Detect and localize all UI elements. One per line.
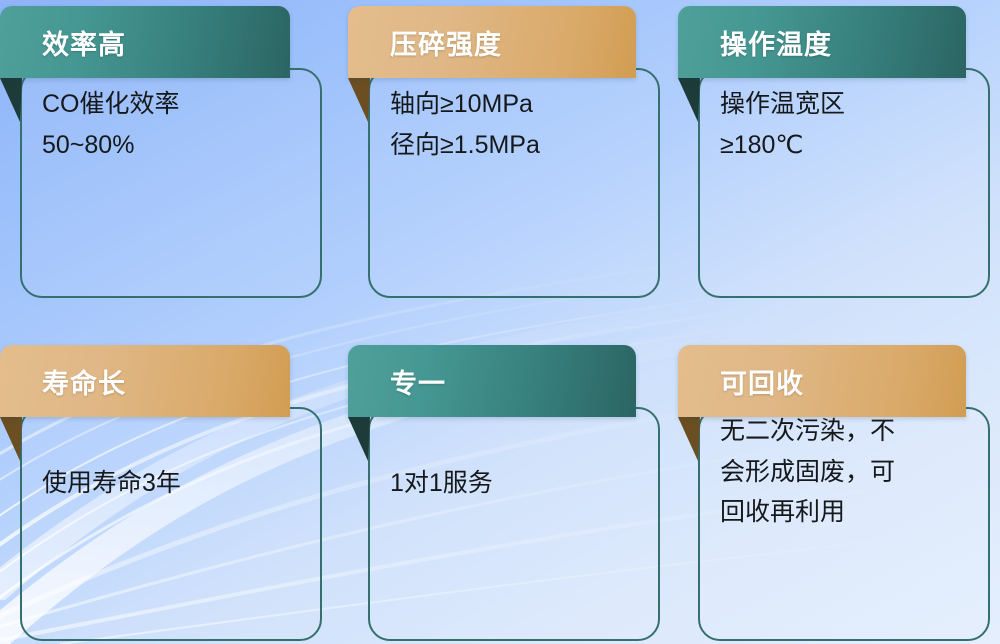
card-banner: 效率高 [0,6,290,78]
card-title: 专一 [390,362,446,401]
card-body-text: CO催化效率 50~80% [42,84,298,165]
infographic-canvas: 效率高 CO催化效率 50~80% 压碎强度 轴向≥10MPa 径向≥1.5MP… [0,0,1000,644]
card-banner: 操作温度 [678,6,966,78]
card-body-text: 使用寿命3年 [42,463,298,504]
ribbon-fold-icon [678,417,700,461]
feature-card-dedicated-service[interactable]: 专一 1对1服务 [348,345,660,641]
card-title: 压碎强度 [390,23,502,62]
card-title: 可回收 [720,362,804,401]
card-title: 效率高 [42,23,126,62]
feature-card-crush-strength[interactable]: 压碎强度 轴向≥10MPa 径向≥1.5MPa [348,6,660,298]
card-body-text: 1对1服务 [390,463,636,504]
card-banner: 压碎强度 [348,6,636,78]
feature-card-efficiency[interactable]: 效率高 CO催化效率 50~80% [0,6,322,298]
ribbon-fold-icon [348,78,370,122]
card-title: 操作温度 [720,23,832,62]
feature-card-long-life[interactable]: 寿命长 使用寿命3年 [0,345,322,641]
card-body-text: 轴向≥10MPa 径向≥1.5MPa [390,84,636,165]
card-banner: 寿命长 [0,345,290,417]
feature-card-grid: 效率高 CO催化效率 50~80% 压碎强度 轴向≥10MPa 径向≥1.5MP… [0,0,1000,644]
card-banner: 可回收 [678,345,966,417]
card-banner: 专一 [348,345,636,417]
feature-card-operating-temperature[interactable]: 操作温度 操作温宽区 ≥180℃ [678,6,990,298]
card-body [368,407,660,641]
card-body-text: 无二次污染，不 会形成固废，可 回收再利用 [720,411,966,533]
feature-card-recyclable[interactable]: 可回收 无二次污染，不 会形成固废，可 回收再利用 [678,345,990,641]
ribbon-fold-icon [0,78,22,122]
ribbon-fold-icon [678,78,700,122]
card-body-text: 操作温宽区 ≥180℃ [720,84,966,165]
ribbon-fold-icon [0,417,22,461]
card-title: 寿命长 [42,362,126,401]
ribbon-fold-icon [348,417,370,461]
card-body [20,407,322,641]
